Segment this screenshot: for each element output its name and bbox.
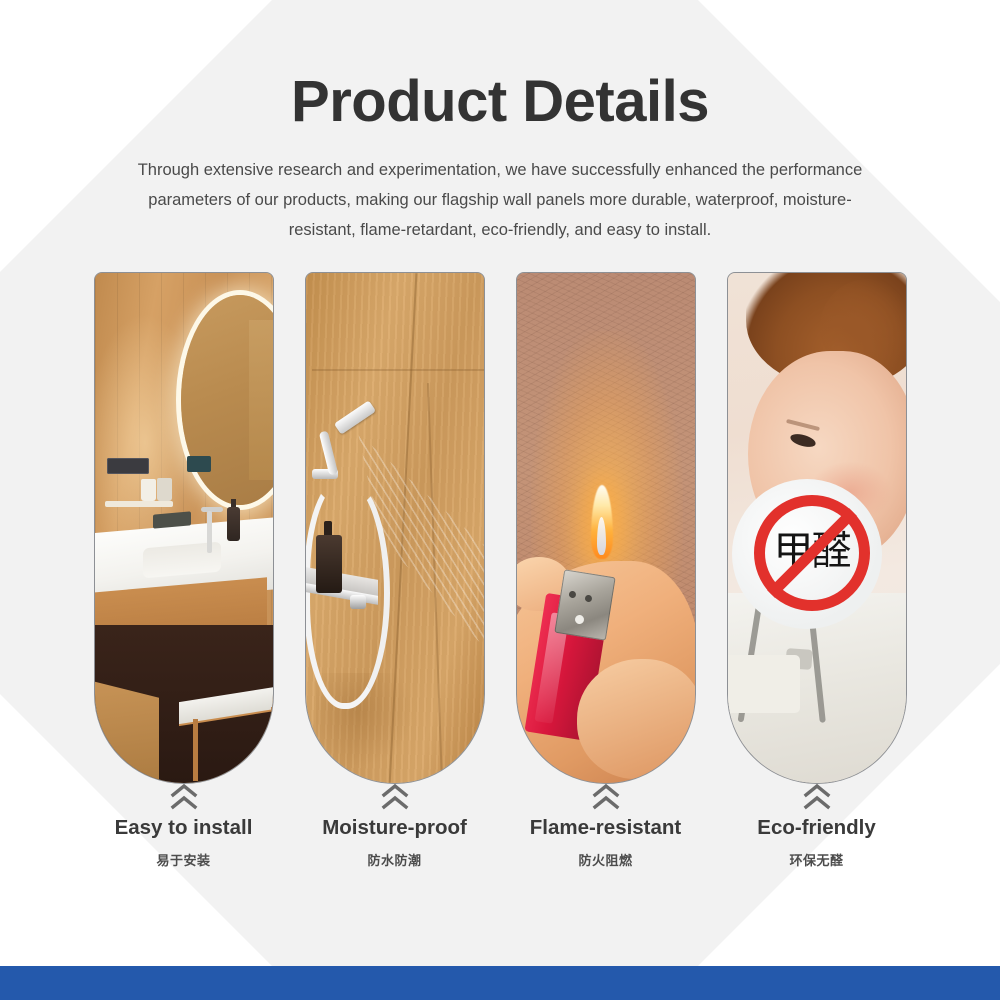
double-chevron-up-icon [380,784,410,810]
feature-label-cn: 防水防潮 [305,850,485,869]
feature-image-moisture-proof[interactable] [305,272,485,784]
double-chevron-up-icon [591,784,621,810]
feature-label-cn: 环保无醛 [727,850,907,869]
double-chevron-up-icon [802,784,832,810]
feature-image-flame-resistant[interactable] [516,272,696,784]
shower-spray-image [306,273,484,783]
feature-image-row: 甲醛 [0,272,1000,784]
double-chevron-up-icon [169,784,199,810]
bathroom-vanity-image [95,273,273,783]
page-title: Product Details [0,0,1000,133]
feature-label-en: Eco-friendly [727,816,907,841]
feature-caption-row: Easy to install 易于安装 Moisture-proof 防水防潮… [0,784,1000,904]
feature-label-en: Flame-resistant [516,816,696,841]
page-description: Through extensive research and experimen… [120,133,880,245]
feature-label-en: Moisture-proof [305,816,485,841]
feature-caption-eco-friendly: Eco-friendly 环保无醛 [727,784,907,904]
feature-caption-easy-to-install: Easy to install 易于安装 [94,784,274,904]
no-entry-prohibition-icon: 甲醛 [754,495,870,611]
header: Product Details Through extensive resear… [0,0,1000,245]
feature-label-en: Easy to install [94,816,274,841]
infographic-page: Product Details Through extensive resear… [0,0,1000,1000]
feature-label-cn: 防火阻燃 [516,850,696,869]
bottom-accent-bar [0,966,1000,1000]
feature-caption-flame-resistant: Flame-resistant 防火阻燃 [516,784,696,904]
feature-image-eco-friendly[interactable]: 甲醛 [727,272,907,784]
lighter-flame-image [517,273,695,783]
feature-label-cn: 易于安装 [94,850,274,869]
lighter-head-shape [554,569,615,640]
feature-caption-moisture-proof: Moisture-proof 防水防潮 [305,784,485,904]
baby-no-formaldehyde-image: 甲醛 [728,273,906,783]
feature-image-easy-to-install[interactable] [94,272,274,784]
